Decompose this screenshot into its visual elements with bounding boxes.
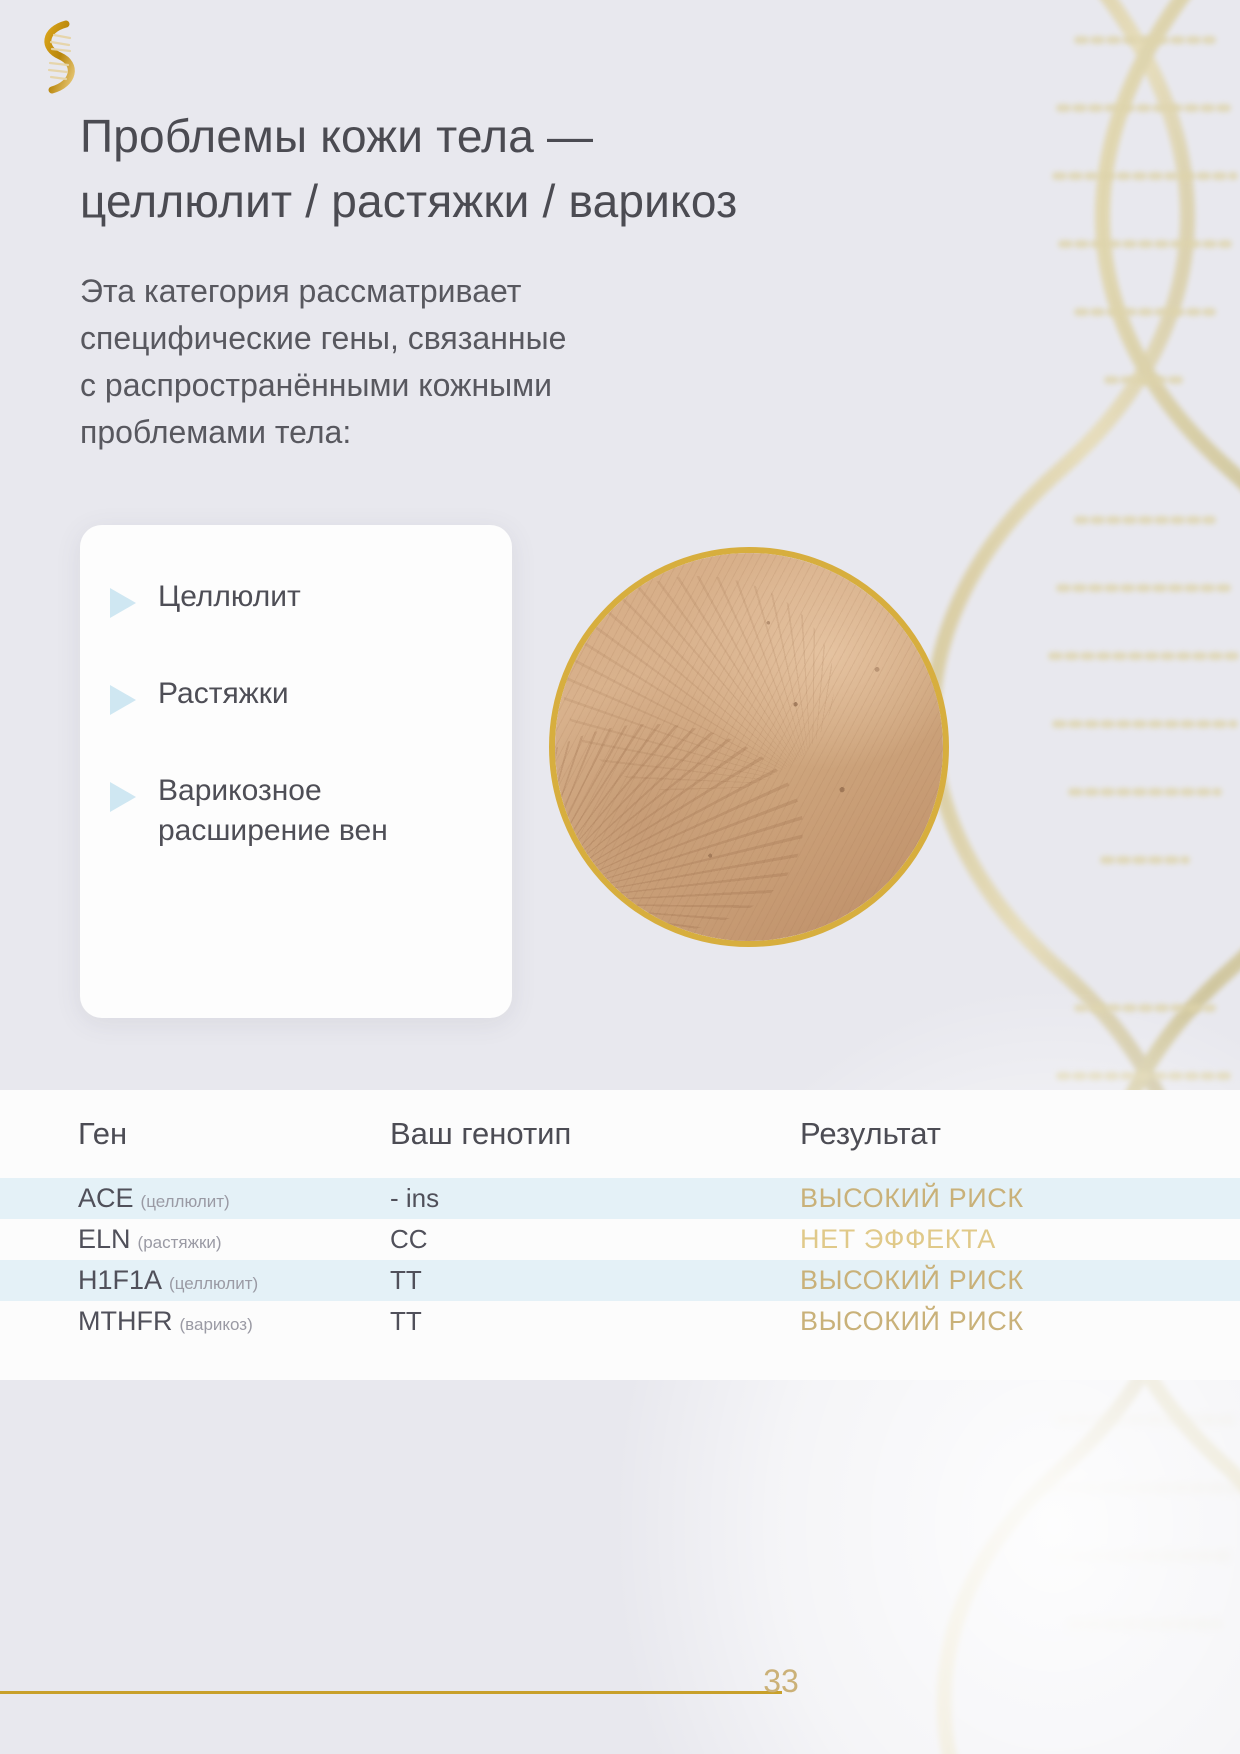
page-number: 33 <box>726 1663 836 1700</box>
intro-line-4: проблемами тела: <box>80 409 800 456</box>
list-item-label: Растяжки <box>158 674 289 714</box>
cell-gene: ACE(целлюлит) <box>78 1183 390 1214</box>
table-row: H1F1A(целлюлит) TT ВЫСОКИЙ РИСК <box>0 1260 1240 1301</box>
column-header-result: Результат <box>800 1116 1162 1152</box>
cell-gene: ELN(растяжки) <box>78 1224 390 1255</box>
conditions-card: Целлюлит Растяжки Варикозное расширение … <box>80 525 512 1018</box>
page-title: Проблемы кожи тела — целлюлит / растяжки… <box>80 104 960 235</box>
intro-paragraph: Эта категория рассматривает специфически… <box>80 268 800 456</box>
gene-note: (целлюлит) <box>169 1274 258 1293</box>
gene-note: (растяжки) <box>138 1233 222 1252</box>
table-row: ACE(целлюлит) - ins ВЫСОКИЙ РИСК <box>0 1178 1240 1219</box>
column-header-genotype: Ваш генотип <box>390 1116 800 1152</box>
slide-page: Проблемы кожи тела — целлюлит / растяжки… <box>0 0 1240 1754</box>
dna-helix-icon <box>26 18 90 96</box>
cell-result: ВЫСОКИЙ РИСК <box>800 1183 1162 1214</box>
list-item-label: Целлюлит <box>158 577 301 617</box>
table-bottom-padding <box>0 1342 1240 1380</box>
skin-cellulite-photo <box>549 547 949 947</box>
page-title-line-1: Проблемы кожи тела — <box>80 104 960 169</box>
cell-gene: H1F1A(целлюлит) <box>78 1265 390 1296</box>
intro-line-2: специфические гены, связанные <box>80 315 800 362</box>
gene-name: ELN <box>78 1224 131 1254</box>
photo-skin-specks <box>555 553 943 941</box>
list-item: Растяжки <box>110 674 490 715</box>
cell-genotype: - ins <box>390 1183 800 1214</box>
conditions-list: Целлюлит Растяжки Варикозное расширение … <box>110 577 490 850</box>
gene-note: (целлюлит) <box>141 1192 230 1211</box>
triangle-right-icon <box>110 588 136 618</box>
column-header-gene: Ген <box>78 1116 390 1152</box>
cell-genotype: CC <box>390 1224 800 1255</box>
gene-note: (варикоз) <box>179 1315 252 1334</box>
cell-gene: MTHFR(варикоз) <box>78 1306 390 1337</box>
cell-genotype: TT <box>390 1265 800 1296</box>
table-row: MTHFR(варикоз) TT ВЫСОКИЙ РИСК <box>0 1301 1240 1342</box>
list-item: Целлюлит <box>110 577 490 618</box>
gene-results-table: Ген Ваш генотип Результат ACE(целлюлит) … <box>0 1090 1240 1380</box>
intro-line-1: Эта категория рассматривает <box>80 268 800 315</box>
cell-result: ВЫСОКИЙ РИСК <box>800 1306 1162 1337</box>
cell-result: НЕТ ЭФФЕКТА <box>800 1224 1162 1255</box>
triangle-right-icon <box>110 685 136 715</box>
triangle-right-icon <box>110 782 136 812</box>
gene-name: MTHFR <box>78 1306 172 1336</box>
footer-divider <box>0 1691 782 1694</box>
cell-genotype: TT <box>390 1306 800 1337</box>
gene-name: H1F1A <box>78 1265 162 1295</box>
cell-result: ВЫСОКИЙ РИСК <box>800 1265 1162 1296</box>
list-item-label: Варикозное расширение вен <box>158 771 490 850</box>
intro-line-3: с распространёнными кожными <box>80 362 800 409</box>
page-title-line-2: целлюлит / растяжки / варикоз <box>80 169 960 234</box>
table-header-row: Ген Ваш генотип Результат <box>0 1090 1240 1178</box>
table-row: ELN(растяжки) CC НЕТ ЭФФЕКТА <box>0 1219 1240 1260</box>
list-item: Варикозное расширение вен <box>110 771 490 850</box>
gene-name: ACE <box>78 1183 134 1213</box>
